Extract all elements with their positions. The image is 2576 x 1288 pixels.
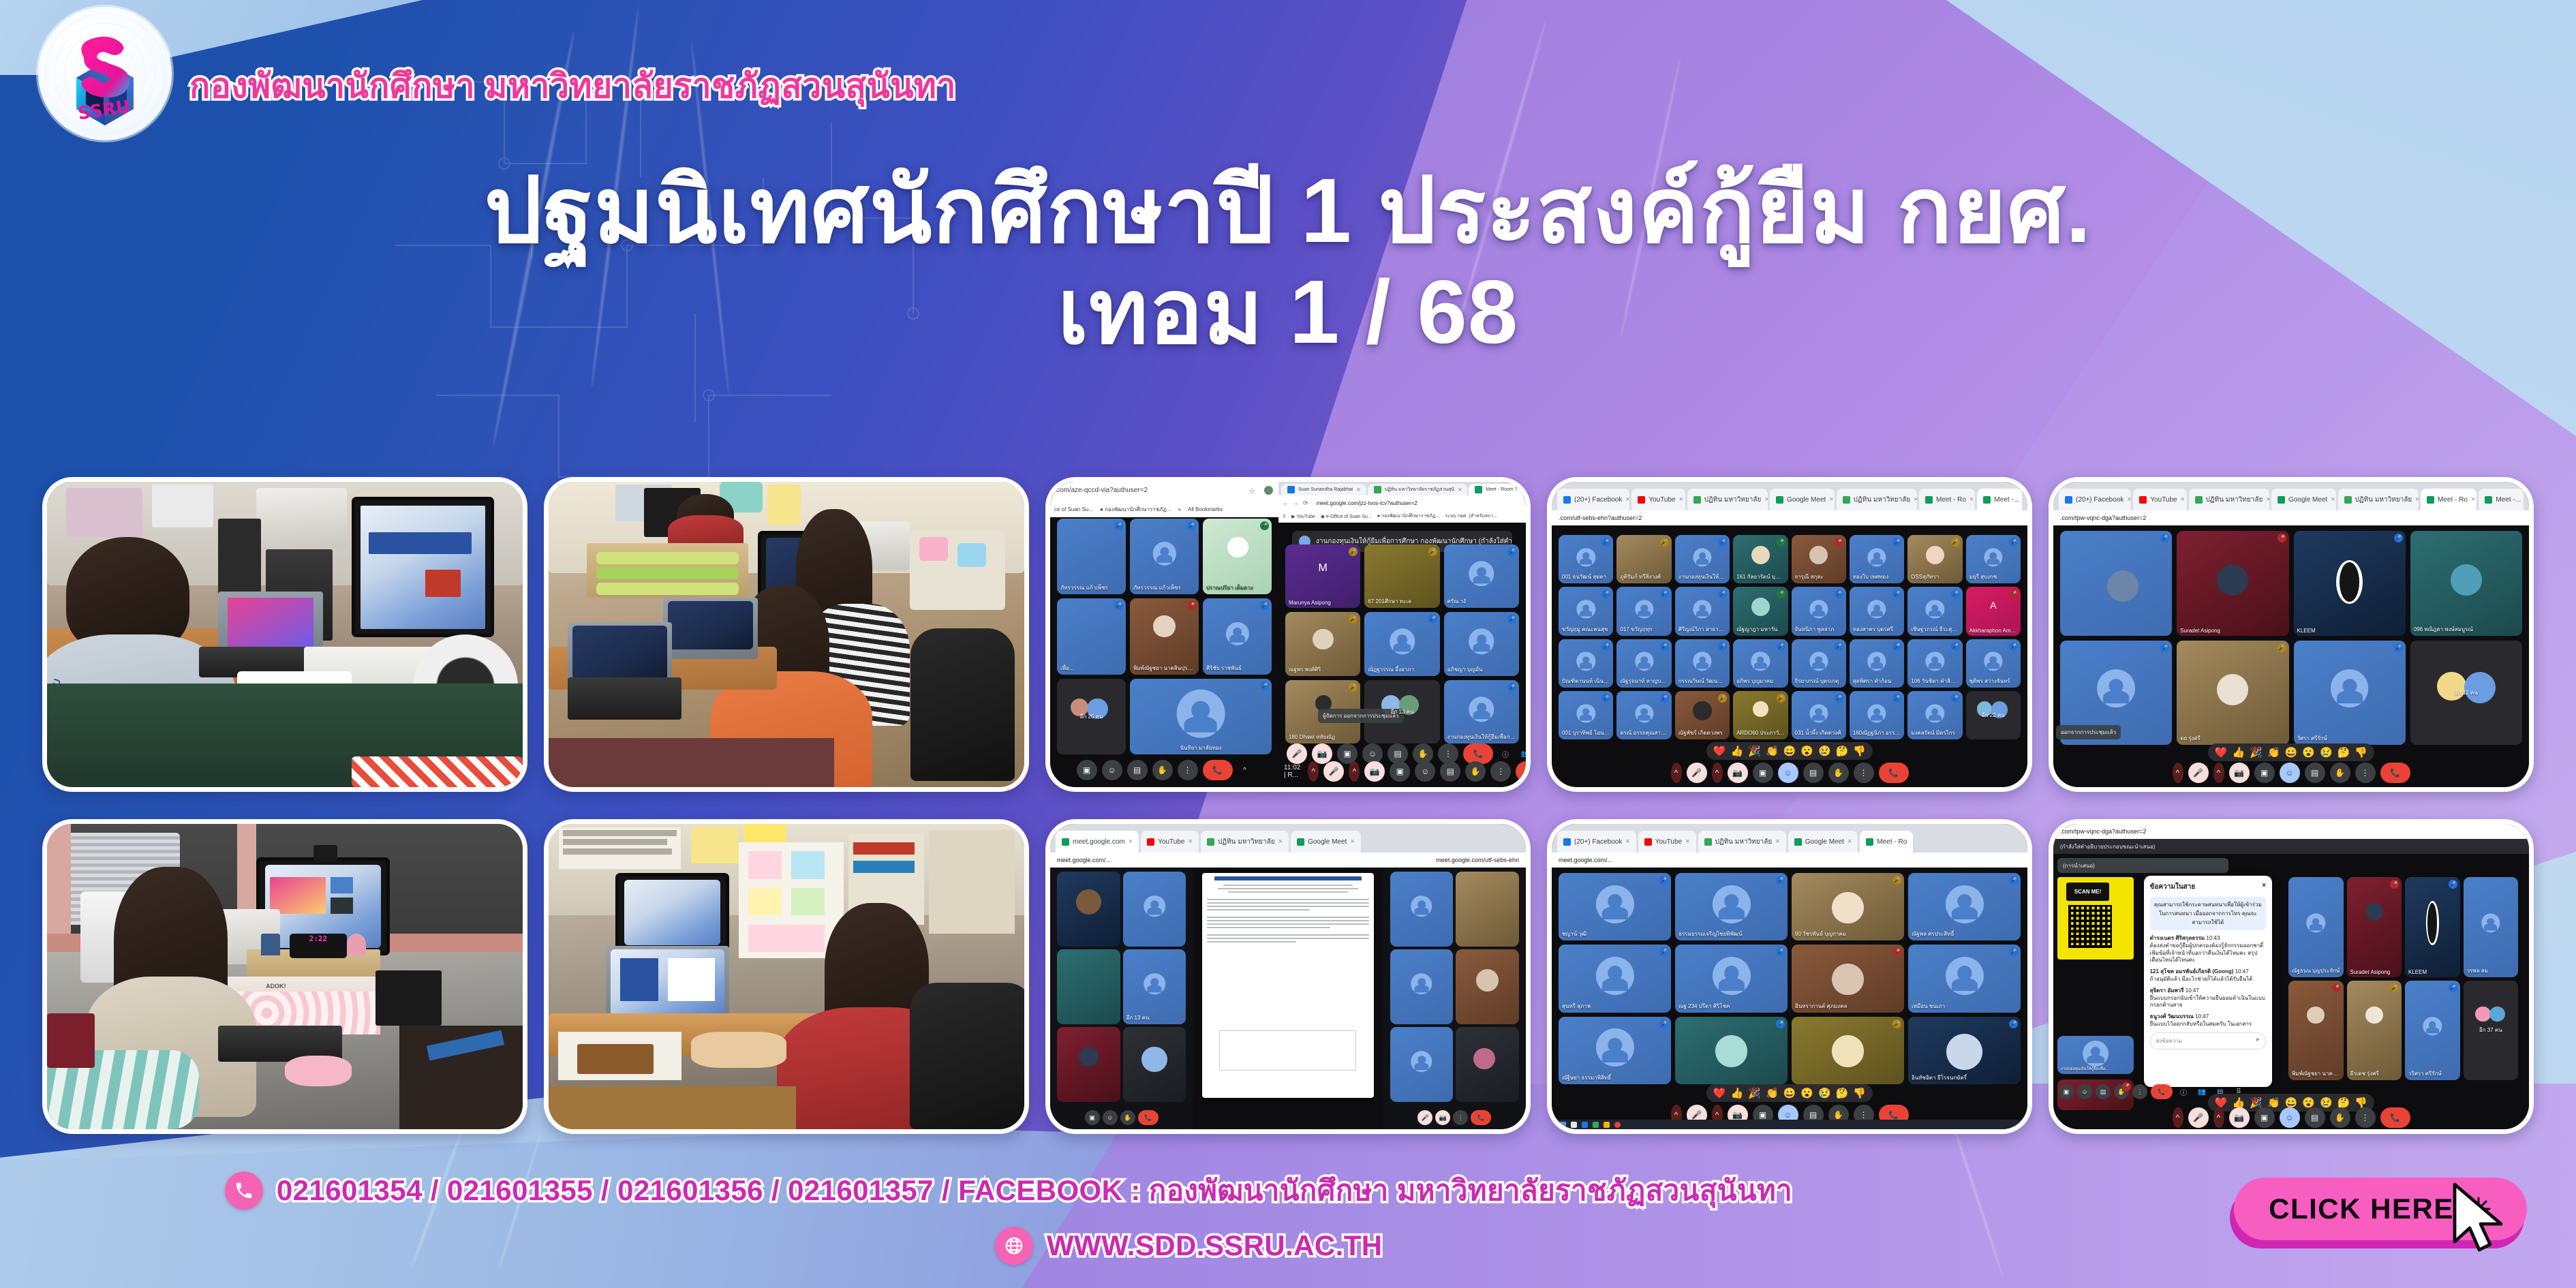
meet-large-grid: (20+) Facebook× YouTube× ปฏิทิน มหาวิทยา… bbox=[1552, 482, 2027, 787]
browser-tab[interactable]: Meet -... bbox=[2479, 489, 2524, 510]
chat-text: ยืนแบบกรอกนับเข้าให้ความยืนยอมดำเนินในแบ… bbox=[2150, 995, 2265, 1009]
browser-tab[interactable]: YouTube× bbox=[2133, 489, 2186, 510]
meet-tile-more[interactable]: อีก 25 คน bbox=[1057, 679, 1126, 754]
cursor-arrow-icon bbox=[2448, 1182, 2511, 1258]
meet-tile[interactable] bbox=[1456, 1027, 1519, 1102]
meet-tile[interactable]: 🎤001 ธนวัฒน์ สุดตา bbox=[1559, 535, 1613, 583]
camera-chevron-icon[interactable]: ^ bbox=[1712, 763, 1723, 783]
avatar bbox=[1177, 690, 1225, 738]
meet-tile[interactable]: 🎤วริศรา ศรีรักษ์ bbox=[2405, 981, 2459, 1081]
reaction-party[interactable]: 🎉 bbox=[1748, 1087, 1761, 1099]
captions-button[interactable]: ▤ bbox=[2096, 1084, 2111, 1099]
emoji-button[interactable]: ☺ bbox=[1103, 1110, 1118, 1125]
forward-icon[interactable]: → bbox=[1293, 500, 1299, 506]
meet-tile[interactable] bbox=[1456, 872, 1519, 947]
more-options-button[interactable]: ⋮ bbox=[1854, 763, 1874, 783]
meet-tile[interactable]: 096 พณิฎดา พงษ์สมบูรณ์ bbox=[2410, 531, 2522, 636]
raise-hand-button[interactable]: ✋ bbox=[2330, 1107, 2350, 1128]
reactions-bar[interactable]: ❤️ 👍 🎉 👏 😀 😮 😢 🤔 👎 bbox=[2208, 743, 2374, 761]
meet-tile[interactable]: 🎤001 บุราทิพย์ โอนวอ... bbox=[1559, 691, 1613, 739]
participant-name: Marunya Asipong bbox=[1285, 598, 1360, 608]
star-icon[interactable]: ☆ bbox=[1248, 487, 1255, 495]
reactions-bar[interactable]: ❤️ 👍 🎉 👏 😀 😮 😢 🤔 👎 bbox=[1706, 742, 1873, 760]
gallery-photo-2[interactable] bbox=[544, 477, 1029, 792]
meet-tile[interactable]: 🎤เชิษฐาภรณ์ ธีระสุขดี bbox=[1907, 587, 1962, 635]
address-bar[interactable]: .com/tpw-vqnc-dga?authuser=2 bbox=[2060, 515, 2146, 521]
profile-avatar[interactable] bbox=[1264, 486, 1273, 495]
browser-tab[interactable]: ปฏิทิน มหาวิทยาลัย× bbox=[1837, 489, 1917, 510]
captions-button[interactable]: ▤ bbox=[2305, 763, 2325, 783]
meet-tile[interactable]: 🎤KLEEM bbox=[2405, 877, 2459, 977]
camera-toggle-button[interactable]: 📷 bbox=[1364, 761, 1385, 782]
reaction-thumbsdown[interactable]: 👎 bbox=[1853, 1087, 1866, 1099]
mic-toggle-button[interactable]: 🎤 bbox=[1687, 763, 1707, 783]
meet-tile[interactable]: 🎤ธรรมธรรมเจริญไชยพิพัฒน์ bbox=[1675, 873, 1788, 940]
meet-tile[interactable]: 🎤อินทัชอิตา ธีโรจนกษัตริ์ bbox=[1908, 1017, 2021, 1084]
meet-tile[interactable]: 🎤ณัฐพัชร์ เกิดดวงพร bbox=[1675, 691, 1730, 739]
avatar bbox=[1469, 561, 1494, 587]
close-icon[interactable]: × bbox=[2262, 882, 2266, 892]
meet-tile[interactable]: งานกองทุนเงินให้กู้ยืมเพื่อ... bbox=[2057, 1036, 2134, 1075]
gallery-meet-2[interactable]: (20+) Facebook× YouTube× ปฏิทิน มหาวิทยา… bbox=[1547, 477, 2032, 792]
leave-call-button[interactable]: 📞 bbox=[1516, 761, 1526, 782]
meet-tile[interactable]: 🎤 67 201ศึกษา ทะเล bbox=[1364, 545, 1439, 608]
raise-hand-button[interactable]: ✋ bbox=[2330, 763, 2350, 783]
leave-call-button[interactable]: 📞 bbox=[1471, 1110, 1491, 1125]
chat-message: 121 สุโชค อมรพันธ์เกียรติ (Goong) 10:47 … bbox=[2150, 968, 2266, 983]
avatar bbox=[1390, 629, 1415, 655]
meet-tile[interactable]: 🎤อภิพร บุญมาคม bbox=[1733, 639, 1788, 688]
banner-footer: 021601354 / 021601355 / 021601356 / 0216… bbox=[0, 1152, 2576, 1288]
reaction-heart[interactable]: ❤️ bbox=[1713, 1087, 1726, 1099]
reaction-smile[interactable]: 😀 bbox=[1783, 745, 1796, 757]
meet-tile[interactable] bbox=[1057, 872, 1120, 947]
shared-document[interactable] bbox=[1202, 873, 1373, 1098]
meet-tile-more[interactable]: อีก 22 คน bbox=[1966, 691, 2021, 739]
bookmark-overflow-icon[interactable]: » bbox=[1178, 506, 1181, 512]
captions-button[interactable]: ▤ bbox=[1440, 761, 1460, 782]
participant-name: งานกองทุนเงินให้กู้ยืมเพื่อการศึกษา กอ..… bbox=[1444, 731, 1519, 743]
meet-tile[interactable]: 🎤จันทนิภา พูลลาภ bbox=[1792, 587, 1846, 635]
meet-tile[interactable] bbox=[1123, 1027, 1186, 1102]
mic-icon: 🎤 bbox=[1428, 615, 1437, 624]
meet-tile[interactable]: 🎤อินทรากานต์ ศุภมงคล bbox=[1792, 945, 1904, 1012]
present-screen-button[interactable]: ▣ bbox=[1753, 763, 1773, 783]
phone-icon bbox=[225, 1171, 263, 1210]
captions-button[interactable]: ▤ bbox=[1127, 760, 1148, 780]
browser-tab-active[interactable]: Meet - Ro× bbox=[2421, 489, 2477, 510]
browser-tab-strip: (20+) Facebook× YouTube× ปฏิทิน มหาวิทยา… bbox=[1552, 482, 2027, 510]
present-screen-button[interactable]: ▣ bbox=[2254, 763, 2275, 783]
click-here-cta[interactable]: CLICK HERE bbox=[2227, 1178, 2527, 1246]
leave-call-button[interactable]: 📞 bbox=[2380, 763, 2410, 783]
address-bar[interactable]: .com/utf-sebs-ehn?authuser=2 bbox=[1559, 515, 1642, 521]
camera-chevron-icon[interactable]: ^ bbox=[2213, 763, 2224, 783]
emoji-button[interactable]: ☺ bbox=[1102, 760, 1122, 780]
captions-button[interactable]: ▤ bbox=[2305, 1107, 2325, 1128]
meet-tile[interactable]: 🎤ชุติพร สว่างจันทร์ bbox=[1966, 639, 2021, 688]
bookmark-item[interactable]: ● กองพัฒนานักศึกษาราชภัฏ... bbox=[1100, 505, 1171, 514]
mic-icon: 🎤 bbox=[1349, 615, 1358, 624]
browser-tab[interactable]: YouTube× bbox=[1631, 489, 1685, 510]
expand-icon[interactable]: ^ bbox=[1238, 763, 1253, 778]
meet-tile[interactable]: 🎤 ณัฏฐวรรณ อึ้งอาภา bbox=[1364, 612, 1439, 675]
leave-call-button[interactable]: 📞 bbox=[2151, 1084, 2173, 1099]
meet-tile[interactable]: 🎤161 กัลยารัตน์ บุญประ... bbox=[1733, 535, 1788, 583]
gallery-meet-5[interactable]: (20+) Facebook× YouTube× ปฏิทิน มหาวิทยา… bbox=[1547, 819, 2032, 1134]
avatar bbox=[1469, 629, 1494, 655]
more-options-button[interactable]: ⋮ bbox=[2355, 1107, 2376, 1128]
meet-tile[interactable]: 🎤 ภัทรวรรณ แก้วเพ็ชร bbox=[1130, 519, 1199, 594]
browser-tab[interactable]: Google Meet× bbox=[1788, 831, 1858, 853]
reaction-clap[interactable]: 👏 bbox=[2267, 746, 2280, 758]
avatar bbox=[1152, 542, 1176, 565]
reaction-sad[interactable]: 😢 bbox=[2320, 746, 2333, 758]
meet-tile[interactable]: 🎤 ศิริชัย ราชพันธ์ bbox=[1203, 598, 1272, 674]
meet-tile[interactable]: 🎤 นันทิยา มาลัยทอง bbox=[1130, 679, 1272, 754]
photo-scene-desk-worker: SSRU bbox=[47, 482, 523, 787]
meet-tile[interactable]: 🎤ณัฐญาฎา มหาวัน bbox=[1733, 587, 1788, 635]
bookmark-all-item[interactable]: All Bookmarks bbox=[1188, 506, 1223, 512]
chat-sender: 121 สุโชค อมรพันธ์เกียรติ (Goong) bbox=[2150, 968, 2234, 975]
reaction-thinking[interactable]: 🤔 bbox=[1836, 1087, 1849, 1099]
meet-tile[interactable]: 🎤ศิริญณ์วิภา สาธาทิโลภ์ bbox=[1675, 587, 1730, 635]
banner-title-block: ปฐมนิเทศนักศึกษาปี 1 ประสงค์กู้ยืม กยศ. … bbox=[0, 155, 2576, 367]
emoji-button[interactable]: ☺ bbox=[1415, 761, 1435, 782]
in-call-chat-panel[interactable]: ข้อความในสาย × คุณสามารถใช้กระดาษสนทนาเพ… bbox=[2144, 876, 2272, 1087]
meet-tile[interactable]: 🎤ทองใบ เทศทอง bbox=[1850, 535, 1904, 583]
gallery-meet-3[interactable]: (20+) Facebook× YouTube× ปฏิทิน มหาวิทยา… bbox=[2049, 477, 2534, 792]
mic-chevron-icon[interactable]: ^ bbox=[1308, 761, 1319, 782]
overflow-count: อีก 25 คน bbox=[1057, 710, 1126, 723]
more-options-button[interactable]: ⋮ bbox=[2132, 1084, 2147, 1099]
meet-tile[interactable]: 🎤Suradet Asipong bbox=[2347, 877, 2402, 977]
meet-tile-more[interactable]: อีก 37 คน bbox=[2464, 981, 2519, 1081]
leave-call-button[interactable]: 📞 bbox=[1203, 760, 1233, 780]
meet-tile[interactable]: 🎤สุนทรี สุภาพ bbox=[1559, 945, 1671, 1012]
meet-tile[interactable]: M 🎤 Marunya Asipong bbox=[1285, 545, 1360, 608]
chat-time: 10:47 bbox=[2195, 1013, 2209, 1019]
browser-tab[interactable]: (20+) Facebook× bbox=[1557, 831, 1636, 853]
avatar bbox=[1469, 696, 1494, 722]
bookmark-item[interactable]: ● กองพัฒนานักศึกษาราชภัฏ... bbox=[1377, 512, 1440, 520]
meet-tile[interactable]: 🎤ณัฐพล ศรประสิทธิ์ bbox=[1908, 873, 2021, 940]
leave-call-button[interactable]: 📞 bbox=[2380, 1107, 2410, 1128]
mic-icon: 🎤 bbox=[1507, 615, 1516, 624]
reaction-surprised[interactable]: 😮 bbox=[1800, 745, 1813, 757]
meet-tile[interactable]: 🎤 ปราณปริยา เต็มดวง bbox=[1203, 519, 1272, 594]
send-icon[interactable]: ➤ bbox=[2255, 1037, 2260, 1045]
gallery-meet-4[interactable]: meet.google.com× YouTube× ปฏิทิน มหาวิทย… bbox=[1045, 819, 1531, 1134]
present-screen-button[interactable]: ▣ bbox=[1085, 1110, 1100, 1125]
chat-title: ข้อความในสาย bbox=[2150, 882, 2196, 892]
browser-tab[interactable]: YouTube× bbox=[1638, 831, 1696, 853]
reaction-thumbsdown[interactable]: 👎 bbox=[2355, 746, 2367, 758]
gallery-meet-1[interactable]: .com/aze-qccd-via?authuser=2 ☆ ce of Sua… bbox=[1045, 477, 1531, 792]
meet-tile-more[interactable]: อีก 12 คน bbox=[2410, 641, 2522, 746]
present-screen-button[interactable]: ▣ bbox=[2254, 1107, 2275, 1128]
camera-chevron-icon[interactable]: ^ bbox=[1349, 761, 1360, 782]
contact-phone-line: 021601354 / 021601355 / 021601356 / 0216… bbox=[225, 1168, 1792, 1213]
meet-tile[interactable]: 🎤031 น้ำผึ้ง เกิดดวงศ์ bbox=[1792, 691, 1846, 739]
gallery-meet-6[interactable]: .com/tpw-vqnc-dga?authuser=2 (กำลังใส่คำ… bbox=[2049, 819, 2534, 1134]
photo-gallery-grid: SSRU bbox=[42, 477, 2534, 1152]
mic-toggle-button[interactable]: 🎤 bbox=[1417, 1110, 1432, 1125]
gallery-photo-3[interactable]: 2:22 ADOK! bbox=[42, 819, 527, 1134]
reaction-thumbsup[interactable]: 👍 bbox=[2233, 746, 2245, 758]
contact-phone-text: 021601354 / 021601355 / 021601356 / 0216… bbox=[277, 1168, 1792, 1213]
meet-tile[interactable]: วรพล สม bbox=[2464, 877, 2519, 977]
reload-icon[interactable]: ⟳ bbox=[1303, 500, 1308, 507]
chat-time: 10:47 bbox=[2235, 968, 2249, 975]
chat-sender: สุจิตรา อัมพวรี bbox=[2150, 987, 2184, 994]
meet-tile[interactable]: 🎤ธีรเดช รุ่งศรี bbox=[2347, 981, 2402, 1081]
contact-website-line[interactable]: WWW.SDD.SSRU.AC.TH bbox=[995, 1227, 1383, 1265]
photo-scene-two-workers bbox=[549, 482, 1024, 787]
more-options-button[interactable]: ⋮ bbox=[1178, 760, 1198, 780]
mic-chevron-icon[interactable]: ^ bbox=[2173, 1107, 2183, 1128]
meet-tile[interactable]: 🎤ดรณ์ อรรถคุณสาริโพธ bbox=[1616, 691, 1671, 739]
browser-tab[interactable]: ปฏิทิน มหาวิทยาลัย× bbox=[1201, 831, 1289, 853]
chat-text: ถ้าอนุมัติแล้ว มีอะไรช่วยก็ได้แล้วได้รับ… bbox=[2150, 976, 2253, 982]
qr-code-slide: SCAN ME! bbox=[2057, 877, 2134, 960]
browser-tab-active[interactable]: Meet - Ro bbox=[1860, 831, 1913, 853]
meet-tile[interactable]: 🎤160ณัฏฐนิภา อรรถชัยพร... bbox=[1850, 691, 1904, 739]
bookmark-item[interactable]: ระบบ กยศ. (สำหรับสถา... bbox=[1445, 512, 1497, 520]
mic-toggle-button[interactable]: 🎤 bbox=[2188, 763, 2209, 783]
meet-tile[interactable]: 🎤 เพื่อ… bbox=[1057, 598, 1126, 674]
meet-tile[interactable]: 🎤 bbox=[1792, 1017, 1904, 1084]
mic-icon: 🎤 bbox=[1260, 601, 1269, 610]
meet-tile[interactable]: 🎤106 วันชิตา คำสิทธิพร bbox=[1907, 639, 1962, 688]
meet-tile[interactable] bbox=[1123, 872, 1186, 947]
browser-tab[interactable]: ปฏิทิน มหาวิทยาลัย× bbox=[2338, 489, 2419, 510]
meet-tile[interactable]: 🎤ตย รุ่งศรี bbox=[2177, 641, 2288, 746]
bookmarks-grid-icon[interactable]: ⠿ bbox=[1283, 514, 1286, 519]
reaction-surprised[interactable]: 😮 bbox=[1800, 1087, 1813, 1099]
browser-tab[interactable]: Google Meet× bbox=[1291, 831, 1361, 853]
address-bar[interactable]: meet.google.com/... bbox=[1057, 857, 1111, 863]
meet-tile[interactable]: 🎤จารุณี สกุละ bbox=[1792, 535, 1846, 583]
leave-call-button[interactable]: 📞 bbox=[1879, 763, 1909, 783]
meet-tile[interactable] bbox=[1057, 1027, 1120, 1102]
reaction-party[interactable]: 🎉 bbox=[1748, 745, 1761, 757]
meet-tile[interactable]: 🎤ชญาน์ วุฒิ bbox=[1559, 873, 1671, 940]
raise-hand-button[interactable]: ✋ bbox=[1120, 1110, 1135, 1125]
camera-toggle-button[interactable]: 📷 bbox=[1435, 1110, 1450, 1125]
reaction-smile[interactable]: 😀 bbox=[1783, 1087, 1796, 1099]
leave-call-button[interactable]: 📞 bbox=[1138, 1110, 1159, 1125]
reaction-clap[interactable]: 👏 bbox=[1766, 1087, 1779, 1099]
camera-toggle-button[interactable]: 📷 bbox=[1728, 763, 1748, 783]
reaction-party[interactable]: 🎉 bbox=[2250, 746, 2263, 758]
participant-name: 67 201ศึกษา ทะเล bbox=[1364, 595, 1439, 608]
browser-tab[interactable]: ปฏิทิน มหาวิทยาลัยราชภัฏสวนสุนั× bbox=[1368, 484, 1468, 495]
bookmark-item[interactable]: ◉ e-Office of Suan Su... bbox=[1321, 514, 1372, 519]
reaction-thumbsup[interactable]: 👍 bbox=[1731, 745, 1744, 757]
browser-tab[interactable]: ปฏิทิน มหาวิทยาลัย× bbox=[1698, 831, 1786, 853]
address-bar[interactable]: meet.google.com/jzz-tvos-tcv?authuser=2 bbox=[1317, 500, 1417, 506]
mic-icon: 🎤 bbox=[1428, 547, 1437, 556]
meet-tile[interactable]: 🎤OSSสุภัทรา bbox=[1907, 535, 1962, 583]
reaction-sad[interactable]: 😢 bbox=[1818, 745, 1831, 757]
raise-hand-button[interactable]: ✋ bbox=[1465, 761, 1486, 782]
browser-tab-strip: meet.google.com× YouTube× ปฏิทิน มหาวิทย… bbox=[1050, 824, 1526, 853]
mic-chevron-icon[interactable]: ^ bbox=[2173, 763, 2183, 783]
meet-tile[interactable]: 🎤017 ขวัญฤทุก bbox=[1616, 587, 1671, 635]
browser-tab[interactable]: Suan Sunandha Rajabhat× bbox=[1281, 484, 1366, 495]
bookmark-item[interactable]: ▶ YouTube bbox=[1291, 514, 1315, 519]
camera-toggle-button[interactable]: 📷 bbox=[2229, 763, 2250, 783]
mic-icon: 🎤 bbox=[1114, 601, 1123, 610]
captions-button[interactable]: ▤ bbox=[1803, 763, 1824, 783]
meet-tile[interactable]: 🎤มงคลรัตน์ มิตรไกร bbox=[1907, 691, 1962, 739]
browser-tab-active[interactable]: Meet -... bbox=[1977, 489, 2022, 510]
emoji-button[interactable]: ☺ bbox=[1778, 763, 1798, 783]
meet-tile[interactable]: 🎤ณฐ 234 ปรีดา ศิริโชค bbox=[1675, 945, 1788, 1012]
address-bar-secondary[interactable]: meet.google.com/utf-sebs-ehn bbox=[1436, 857, 1519, 863]
back-icon[interactable]: ← bbox=[1283, 500, 1289, 506]
gallery-photo-1[interactable]: SSRU bbox=[42, 477, 527, 792]
meet-tile[interactable]: ณัฐธนน บุญประจักษ์ bbox=[2288, 877, 2343, 977]
reaction-heart[interactable]: ❤️ bbox=[1713, 745, 1726, 757]
participant-name: พิมพ์ณัฐชยา นาคสินปุรณะ bbox=[1130, 662, 1199, 675]
reactions-bar[interactable]: ❤️ 👍 🎉 👏 😀 😮 😢 🤔 👎 bbox=[1706, 1084, 1873, 1102]
meet-tile[interactable]: 🎤ณัฐรุจนาท์ หาญบวกลำ bbox=[1616, 639, 1671, 688]
mic-icon: 🎤 bbox=[1349, 683, 1358, 692]
meet-tile[interactable]: 🎤 อภิชญา บุญมั่น bbox=[1444, 612, 1519, 675]
people-icon[interactable]: 👥 bbox=[1518, 746, 1526, 761]
meet-tile[interactable] bbox=[1390, 872, 1454, 947]
meet-tile[interactable]: 🎤ARDO60 ประภาวัลย์ ... bbox=[1733, 691, 1788, 739]
people-icon[interactable]: 👥 bbox=[2194, 1084, 2209, 1099]
meet-tile[interactable]: 🎤ทองสาคร บุตรศรี bbox=[1850, 587, 1904, 635]
browser-tab[interactable]: YouTube× bbox=[1141, 831, 1199, 853]
meet-chat-panel: .com/tpw-vqnc-dga?authuser=2 (กำลังใส่คำ… bbox=[2053, 824, 2529, 1129]
emoji-button[interactable]: ☺ bbox=[2077, 1084, 2092, 1099]
browser-tab[interactable]: ปฏิทิน มหาวิทยาลัย× bbox=[2189, 489, 2269, 510]
browser-tab[interactable]: Meet - Ro× bbox=[1919, 489, 1975, 510]
chat-input[interactable]: ส่งข้อความ ➤ bbox=[2150, 1032, 2266, 1049]
participant-name: ปราณปริยา เต็มดวง bbox=[1203, 581, 1272, 594]
reaction-heart[interactable]: ❤️ bbox=[2215, 746, 2228, 758]
more-options-button[interactable]: ⋮ bbox=[2355, 763, 2376, 783]
participant-name: นันทิยา มาลัยทอง bbox=[1130, 741, 1272, 754]
meet-tile[interactable]: A🎤Akkharaphon Amk... bbox=[1966, 587, 2021, 635]
reaction-smile[interactable]: 😀 bbox=[2285, 746, 2298, 758]
participant-name: เพื่อ… bbox=[1057, 662, 1126, 675]
reaction-sad[interactable]: 😢 bbox=[1818, 1087, 1831, 1099]
browser-tab[interactable]: Google Meet× bbox=[2271, 489, 2336, 510]
meet-tile[interactable]: 🎤วัศรา ศรีรักษ์ bbox=[2294, 641, 2406, 746]
browser-tab-active[interactable]: Meet - Room 7 bbox=[1469, 484, 1523, 495]
browser-tab[interactable]: (20+) Facebook× bbox=[2059, 489, 2131, 510]
camera-chevron-icon[interactable]: ^ bbox=[2213, 1107, 2224, 1128]
meet-tile[interactable] bbox=[1390, 1027, 1454, 1102]
mic-icon: 🎤 bbox=[1507, 547, 1516, 556]
address-bar[interactable]: meet.google.com/... bbox=[1559, 857, 1612, 863]
meet-tile[interactable]: 🎤จิรยาภรณ์ บุตรเกตุ bbox=[1792, 639, 1846, 688]
meet-tile[interactable] bbox=[1456, 949, 1519, 1024]
meet-tile[interactable] bbox=[1390, 949, 1454, 1024]
meeting-details-icon[interactable]: ⓘ bbox=[2176, 1084, 2191, 1099]
address-bar[interactable]: .com/tpw-vqnc-dga?authuser=2 bbox=[2060, 828, 2146, 835]
more-options-button[interactable]: ⋮ bbox=[1490, 761, 1511, 782]
emoji-button[interactable]: ☺ bbox=[2280, 763, 2300, 783]
meet-tile[interactable]: 🎤ณัฐิษยา ธรรมาพิสิทธิ์ bbox=[1559, 1017, 1671, 1084]
gallery-photo-4[interactable] bbox=[544, 819, 1029, 1134]
meet-url-left: .com/aze-qccd-via?authuser=2 bbox=[1054, 487, 1148, 494]
chat-sender: ธนูวงศ์ วัฒนบรรณ bbox=[2150, 1013, 2194, 1019]
meet-tile[interactable]: 🎤ขวัญฤมู คณะคนสุข bbox=[1559, 587, 1613, 635]
website-text[interactable]: WWW.SDD.SSRU.AC.TH bbox=[1047, 1229, 1383, 1262]
mic-toggle-button[interactable]: 🎤 bbox=[2188, 1107, 2209, 1128]
meet-grid-many: (20+) Facebook× YouTube× ปฏิทิน มหาวิทยา… bbox=[1552, 824, 2027, 1129]
meet-tile[interactable]: อีก 13 คน bbox=[1123, 949, 1186, 1024]
mic-icon: 🎤 bbox=[1349, 547, 1358, 556]
meet-tile[interactable]: 🎤สุดพิศรา คำก้อน bbox=[1850, 639, 1904, 688]
reaction-thumbsup[interactable]: 👍 bbox=[1731, 1087, 1744, 1099]
reaction-surprised[interactable]: 😮 bbox=[2302, 746, 2315, 758]
mic-toggle-button[interactable]: 🎤 bbox=[1323, 761, 1344, 782]
reaction-clap[interactable]: 👏 bbox=[1766, 745, 1779, 757]
browser-tab[interactable]: ปฏิทิน มหาวิทยาลัย× bbox=[1687, 489, 1768, 510]
reaction-thumbsdown[interactable]: 👎 bbox=[1853, 745, 1866, 757]
meeting-details-icon[interactable]: ⓘ bbox=[1498, 746, 1513, 761]
chat-sender: ดำรงเนตร ศิริสกุลธรรม bbox=[2150, 935, 2205, 941]
meet-tile[interactable]: 🎤 ณฐพร พงศ์ศิริ bbox=[1285, 612, 1360, 675]
browser-tab-strip: (20+) Facebook× YouTube× ปฏิทิน มหาวิทยา… bbox=[1552, 824, 2027, 853]
title-line-2: เทอม 1 / 68 bbox=[0, 257, 2576, 367]
meet-tile-more[interactable]: อีก 13 คน bbox=[1364, 680, 1439, 743]
browser-tab[interactable]: Google Meet× bbox=[1770, 489, 1835, 510]
browser-tab[interactable]: (20+) Facebook× bbox=[1557, 489, 1629, 510]
meet-tile[interactable]: 🎤 งานกองทุนเงินให้กู้ยืมเพื่อการศึกษา กอ… bbox=[1444, 680, 1519, 743]
meet-tile[interactable]: 🎤พิมพ์ณัฐชยา นาคสั... bbox=[2288, 981, 2343, 1081]
present-screen-button[interactable]: ▣ bbox=[1077, 760, 1097, 780]
meet-tile[interactable]: 🎤 bbox=[2060, 531, 2172, 636]
raise-hand-button[interactable]: ✋ bbox=[1828, 763, 1849, 783]
meet-tile[interactable]: 🎤กรรณวิษณ์ วัฒนพิทักษ์ bbox=[1675, 639, 1730, 688]
meet-tile[interactable]: 🎤 ศรัณ วงั bbox=[1444, 545, 1519, 608]
meet-tile[interactable]: 🎤 พิมพ์ณัฐชยา นาคสินปุรณะ bbox=[1130, 598, 1199, 674]
meet-tile[interactable]: 🎤ปัณฑิตานนท์ เนินเกื้อ bbox=[1559, 639, 1613, 688]
present-screen-button[interactable]: ▣ bbox=[1390, 761, 1410, 782]
participant-name: ภัทรวรรณ แก้วเพ็ชร bbox=[1130, 581, 1199, 594]
browser-tab-active[interactable]: meet.google.com× bbox=[1056, 831, 1139, 853]
meet-tile[interactable]: 🎤มยุรี สุบงกช bbox=[1966, 535, 2021, 583]
mic-chevron-icon[interactable]: ^ bbox=[1671, 763, 1682, 783]
raise-hand-button[interactable]: ✋ bbox=[1152, 760, 1173, 780]
reaction-thinking[interactable]: 🤔 bbox=[2337, 746, 2350, 758]
camera-toggle-button[interactable]: 📷 bbox=[2229, 1107, 2250, 1128]
meet-tile[interactable]: 🎤 bbox=[1675, 1017, 1788, 1084]
meet-tile[interactable]: 🎤เหมือน ชนเภา bbox=[1908, 945, 2021, 1012]
bookmark-item[interactable]: ce of Suan Su... bbox=[1054, 506, 1093, 512]
meet-tile[interactable]: 🎤 ภัทรวรรณ แก้วเพ็ชร bbox=[1057, 519, 1126, 594]
more-options-button[interactable]: ⋮ bbox=[1453, 1110, 1468, 1125]
meet-tile[interactable] bbox=[1057, 949, 1120, 1024]
meet-tile[interactable]: 🎤งานกองทุนเงินให้กู้ยื... bbox=[1675, 535, 1730, 583]
meet-tile[interactable]: 🎤Suradet Asipong bbox=[2177, 531, 2288, 636]
emoji-button[interactable]: ☺ bbox=[2280, 1107, 2300, 1128]
present-screen-button[interactable]: ▣ bbox=[2059, 1084, 2074, 1099]
reaction-thinking[interactable]: 🤔 bbox=[1836, 745, 1849, 757]
meet-tile[interactable]: 🎤ภูติรัมภ์ ทวีสิ่งวงศ์ bbox=[1616, 535, 1671, 583]
meet-tile[interactable]: 🎤KLEEM bbox=[2294, 531, 2406, 636]
meet-tile[interactable]: 🎤90 วัชรพันธ์ บุญกาคม bbox=[1792, 873, 1904, 940]
logo-circle-background: SSRU bbox=[38, 7, 172, 140]
